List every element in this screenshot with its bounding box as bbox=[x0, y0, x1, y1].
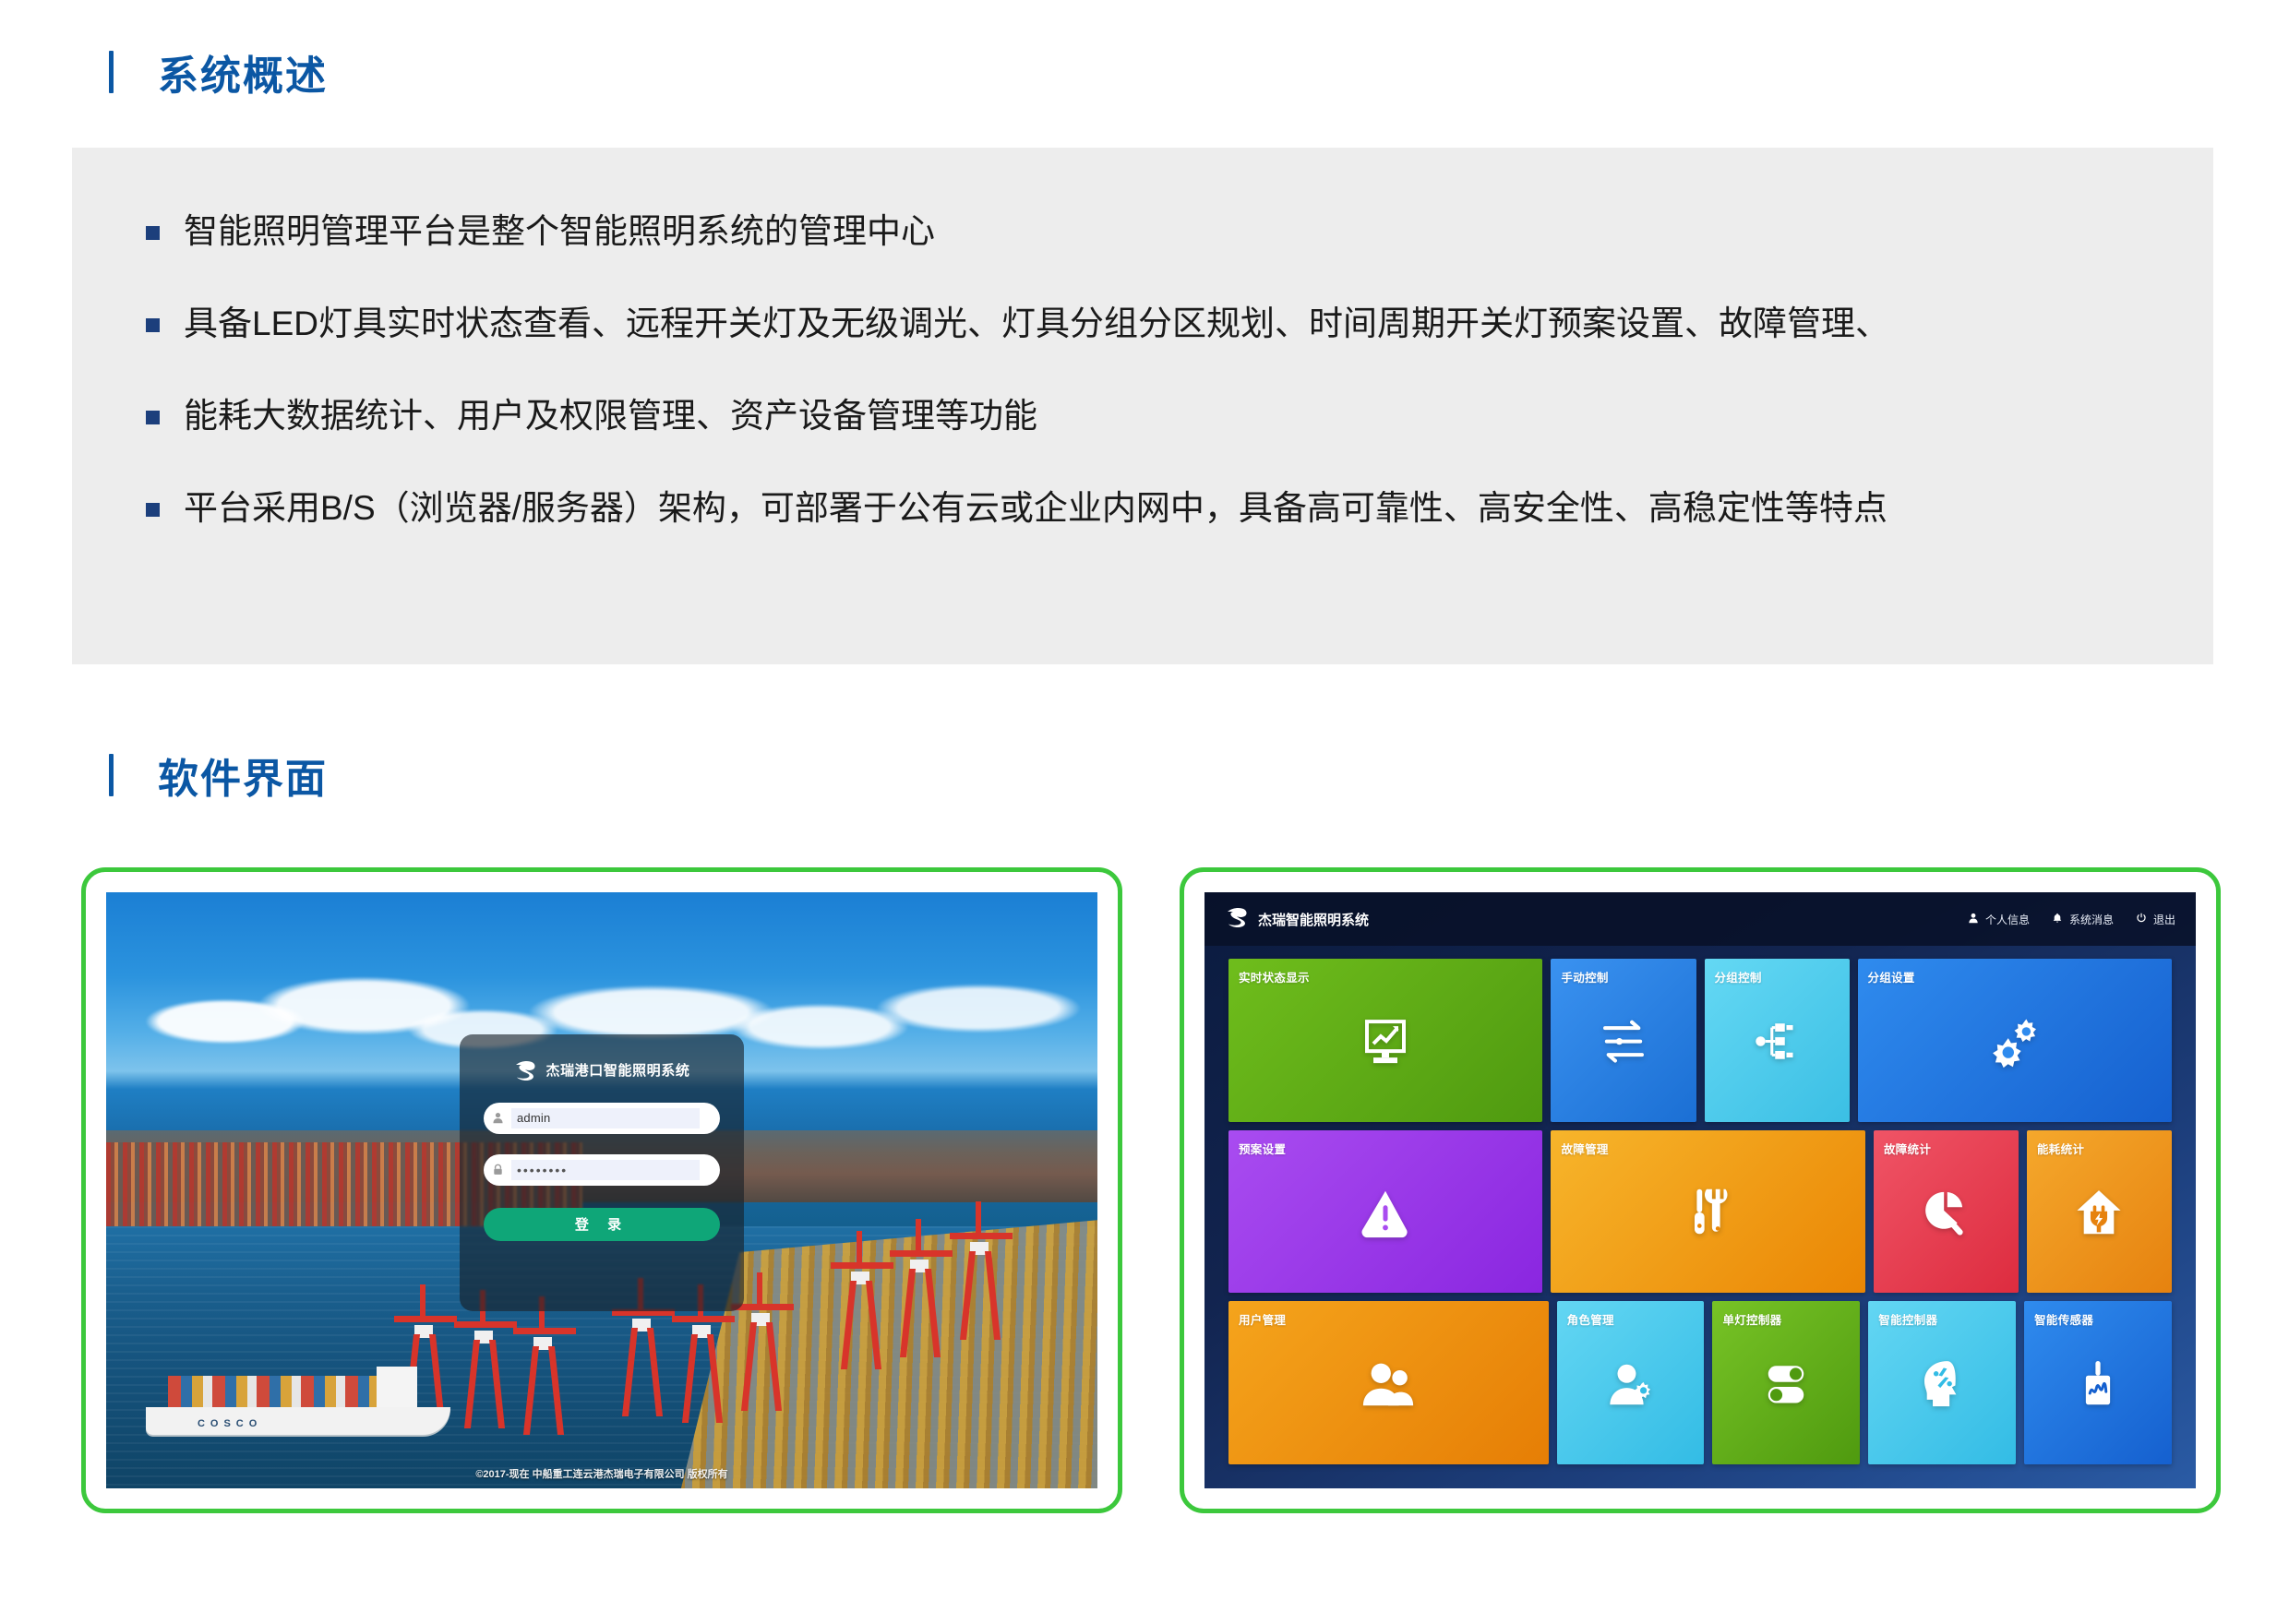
users-icon bbox=[1228, 1355, 1549, 1413]
tile-plan-settings[interactable]: 预案设置 bbox=[1228, 1130, 1542, 1294]
port-background-photo: COSCO 杰瑞港口智能照明系统 admin bbox=[106, 892, 1097, 1488]
bullet-marker-icon bbox=[146, 411, 160, 424]
password-field[interactable]: •••••••• bbox=[484, 1154, 720, 1186]
warning-triangle-icon bbox=[1228, 1184, 1542, 1241]
dashboard: 杰瑞智能照明系统 个人信息 系统消息 bbox=[1204, 892, 2196, 1488]
tile-grid: 实时状态显示 手动控制 bbox=[1228, 959, 2172, 1464]
tile-label: 实时状态显示 bbox=[1239, 968, 1310, 985]
tile-label: 用户管理 bbox=[1239, 1310, 1286, 1328]
list-item: 智能照明管理平台是整个智能照明系统的管理中心 bbox=[146, 209, 2195, 255]
tile-label: 角色管理 bbox=[1567, 1310, 1614, 1328]
nav-item-label: 系统消息 bbox=[2069, 912, 2114, 927]
tile-smart-sensor[interactable]: 智能传感器 bbox=[2024, 1301, 2172, 1464]
password-input[interactable]: •••••••• bbox=[511, 1160, 700, 1180]
lock-icon bbox=[484, 1164, 511, 1176]
copyright-text: ©2017-现在 中船重工连云港杰瑞电子有限公司 版权所有 bbox=[106, 1466, 1097, 1481]
gears-icon bbox=[1858, 1011, 2172, 1072]
nav-item-label: 退出 bbox=[2153, 912, 2175, 927]
bullet-text: 具备LED灯具实时状态查看、远程开关灯及无级调光、灯具分组分区规划、时间周期开关… bbox=[184, 301, 1889, 347]
tile-label: 预案设置 bbox=[1239, 1140, 1286, 1157]
tile-label: 智能控制器 bbox=[1878, 1310, 1937, 1328]
list-item: 具备LED灯具实时状态查看、远程开关灯及无级调光、灯具分组分区规划、时间周期开关… bbox=[146, 301, 2195, 347]
tile-group-control[interactable]: 分组控制 bbox=[1705, 959, 1850, 1122]
sensor-wave-icon bbox=[2024, 1358, 2172, 1410]
company-logo-icon bbox=[1225, 905, 1249, 934]
tile-label: 分组控制 bbox=[1715, 968, 1762, 985]
tile-user-management[interactable]: 用户管理 bbox=[1228, 1301, 1549, 1464]
username-field[interactable]: admin bbox=[484, 1103, 720, 1134]
bullet-text: 能耗大数据统计、用户及权限管理、资产设备管理等功能 bbox=[184, 393, 1037, 439]
bullet-marker-icon bbox=[146, 318, 160, 332]
tile-fault-statistics[interactable]: 故障统计 bbox=[1874, 1130, 2019, 1294]
ship-bridge bbox=[377, 1367, 417, 1407]
ship-name-label: COSCO bbox=[198, 1418, 262, 1429]
user-icon bbox=[484, 1112, 511, 1124]
gantry-crane bbox=[840, 1231, 882, 1369]
bell-icon bbox=[2052, 913, 2063, 926]
tile-label: 智能传感器 bbox=[2034, 1310, 2093, 1328]
tile-label: 故障管理 bbox=[1561, 1140, 1608, 1157]
section-heading-overview: 系统概述 bbox=[109, 44, 328, 100]
monitor-chart-icon bbox=[1228, 1012, 1542, 1071]
tile-smart-controller[interactable]: 智能控制器 bbox=[1868, 1301, 2016, 1464]
sliders-icon bbox=[1551, 1014, 1696, 1068]
login-title: 杰瑞港口智能照明系统 bbox=[545, 1060, 689, 1080]
login-panel: 杰瑞港口智能照明系统 admin •••••••• 登 录 bbox=[460, 1034, 744, 1311]
list-item: 能耗大数据统计、用户及权限管理、资产设备管理等功能 bbox=[146, 393, 2195, 439]
pie-search-icon bbox=[1874, 1186, 2019, 1239]
tile-role-management[interactable]: 角色管理 bbox=[1557, 1301, 1705, 1464]
dashboard-header: 杰瑞智能照明系统 个人信息 系统消息 bbox=[1204, 892, 2196, 946]
tile-label: 手动控制 bbox=[1561, 968, 1608, 985]
company-logo-icon bbox=[513, 1058, 537, 1082]
gantry-crane bbox=[740, 1272, 783, 1411]
nav-item-messages[interactable]: 系统消息 bbox=[2052, 912, 2114, 927]
tile-manual-control[interactable]: 手动控制 bbox=[1551, 959, 1696, 1122]
gantry-crane bbox=[959, 1201, 1001, 1340]
gantry-crane bbox=[522, 1296, 565, 1435]
ship-hull bbox=[146, 1407, 450, 1435]
bullet-text: 智能照明管理平台是整个智能照明系统的管理中心 bbox=[184, 209, 935, 255]
bullet-text: 平台采用B/S（浏览器/服务器）架构，可部署于公有云或企业内网中，具备高可靠性、… bbox=[184, 485, 1888, 531]
tile-row: 用户管理 角色管理 bbox=[1228, 1301, 2172, 1464]
gantry-crane bbox=[463, 1290, 506, 1428]
page-title: 系统概述 bbox=[158, 42, 328, 101]
gantry-crane bbox=[899, 1219, 941, 1357]
login-screenshot-frame: COSCO 杰瑞港口智能照明系统 admin bbox=[81, 867, 1122, 1513]
heading-accent-bar bbox=[109, 51, 114, 93]
tile-label: 分组设置 bbox=[1868, 968, 1915, 985]
tile-group-settings[interactable]: 分组设置 bbox=[1858, 959, 2172, 1122]
nav-item-profile[interactable]: 个人信息 bbox=[1968, 912, 2030, 927]
house-plug-icon bbox=[2027, 1186, 2172, 1239]
bullet-marker-icon bbox=[146, 503, 160, 517]
user-gear-icon bbox=[1557, 1357, 1705, 1411]
dashboard-screenshot: 杰瑞智能照明系统 个人信息 系统消息 bbox=[1204, 892, 2196, 1488]
overview-bullet-list: 智能照明管理平台是整个智能照明系统的管理中心 具备LED灯具实时状态查看、远程开… bbox=[146, 209, 2195, 531]
container-ship: COSCO bbox=[146, 1363, 450, 1435]
login-button[interactable]: 登 录 bbox=[484, 1208, 720, 1241]
tile-row: 实时状态显示 手动控制 bbox=[1228, 959, 2172, 1122]
username-input[interactable]: admin bbox=[511, 1108, 700, 1128]
brain-head-icon bbox=[1868, 1357, 2016, 1411]
section-heading-software: 软件界面 bbox=[109, 747, 328, 803]
ship-containers bbox=[168, 1376, 380, 1407]
tile-realtime-status[interactable]: 实时状态显示 bbox=[1228, 959, 1542, 1122]
toggles-icon bbox=[1712, 1358, 1860, 1410]
dashboard-screenshot-frame: 杰瑞智能照明系统 个人信息 系统消息 bbox=[1180, 867, 2221, 1513]
tile-single-lamp-controller[interactable]: 单灯控制器 bbox=[1712, 1301, 1860, 1464]
login-screenshot: COSCO 杰瑞港口智能照明系统 admin bbox=[106, 892, 1097, 1488]
nav-item-label: 个人信息 bbox=[1985, 912, 2030, 927]
power-icon bbox=[2136, 913, 2147, 926]
user-icon bbox=[1968, 913, 1979, 926]
tile-label: 单灯控制器 bbox=[1722, 1310, 1781, 1328]
dashboard-brand: 杰瑞智能照明系统 bbox=[1225, 905, 1369, 934]
dashboard-title: 杰瑞智能照明系统 bbox=[1258, 910, 1369, 929]
dashboard-nav: 个人信息 系统消息 退出 bbox=[1968, 912, 2175, 927]
login-brand: 杰瑞港口智能照明系统 bbox=[460, 1058, 744, 1082]
section-title-software: 软件界面 bbox=[158, 746, 328, 805]
tile-energy-statistics[interactable]: 能耗统计 bbox=[2027, 1130, 2172, 1294]
bullet-marker-icon bbox=[146, 226, 160, 240]
list-item: 平台采用B/S（浏览器/服务器）架构，可部署于公有云或企业内网中，具备高可靠性、… bbox=[146, 485, 2195, 531]
tile-label: 故障统计 bbox=[1884, 1140, 1931, 1157]
heading-accent-bar bbox=[109, 754, 114, 796]
tile-row: 预案设置 故障管理 bbox=[1228, 1130, 2172, 1294]
tools-icon bbox=[1551, 1184, 1864, 1241]
overview-card: 智能照明管理平台是整个智能照明系统的管理中心 具备LED灯具实时状态查看、远程开… bbox=[72, 148, 2213, 664]
tile-label: 能耗统计 bbox=[2037, 1140, 2084, 1157]
nav-item-logout[interactable]: 退出 bbox=[2136, 912, 2175, 927]
hierarchy-icon bbox=[1705, 1015, 1850, 1067]
tile-fault-management[interactable]: 故障管理 bbox=[1551, 1130, 1864, 1294]
